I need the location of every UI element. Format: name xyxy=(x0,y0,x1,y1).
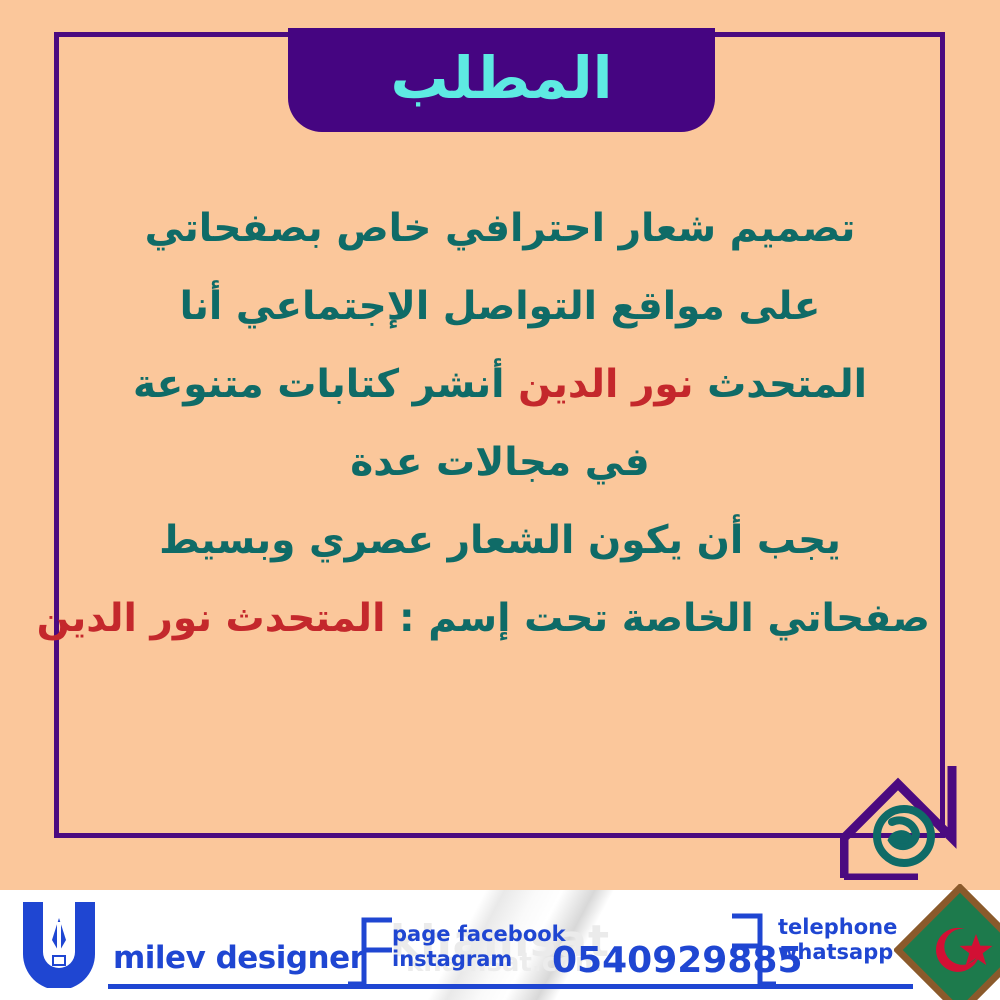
text-line-4: في مجالات عدة xyxy=(70,424,930,502)
text-segment-highlight: نور الدين xyxy=(518,362,693,407)
label-telephone: telephone xyxy=(778,915,897,940)
requirement-text-block: تصميم شعار احترافي خاص بصفحاتي على مواقع… xyxy=(70,190,930,658)
diamond-swirl-icon xyxy=(840,760,970,880)
text-segment: يجب أن يكون الشعار عصري وبسيط xyxy=(159,518,841,563)
text-segment: أنشر كتابات متنوعة xyxy=(133,362,518,407)
text-segment: على مواقع التواصل الإجتماعي أنا xyxy=(180,284,821,329)
bracket-left-icon xyxy=(348,916,394,988)
text-segment-highlight: المتحدث نور الدين xyxy=(37,596,386,641)
text-line-2: على مواقع التواصل الإجتماعي أنا xyxy=(70,268,930,346)
text-line-1: تصميم شعار احترافي خاص بصفحاتي xyxy=(70,190,930,268)
text-line-3: المتحدث نور الدين أنشر كتابات متنوعة xyxy=(70,346,930,424)
label-page-facebook: page facebook xyxy=(392,922,566,947)
footer-rule xyxy=(108,984,913,989)
text-segment: في مجالات عدة xyxy=(350,440,649,485)
contacts-left-labels: page facebook instagram xyxy=(392,922,566,972)
title-banner: المطلب xyxy=(288,28,715,132)
text-line-5: يجب أن يكون الشعار عصري وبسيط xyxy=(70,502,930,580)
contacts-right-labels: telephone whatsapp xyxy=(778,915,897,965)
bracket-right-icon xyxy=(730,912,776,988)
text-line-6: صفحاتي الخاصة تحت إسم : المتحدث نور الدي… xyxy=(70,580,930,658)
swirl-icon xyxy=(877,809,931,863)
banner-title: المطلب xyxy=(390,49,612,107)
brand-name: milev designer xyxy=(113,940,364,976)
label-instagram: instagram xyxy=(392,947,566,972)
algeria-flag-icon xyxy=(894,884,1000,1000)
text-segment: المتحدث xyxy=(694,362,867,407)
text-segment: صفحاتي الخاصة تحت إسم : xyxy=(385,596,930,641)
text-segment: تصميم شعار احترافي خاص بصفحاتي xyxy=(145,206,856,251)
poster-root: المطلب تصميم شعار احترافي خاص بصفحاتي عل… xyxy=(0,0,1000,1000)
poster-card: المطلب تصميم شعار احترافي خاص بصفحاتي عل… xyxy=(0,0,1000,890)
milev-pen-logo-icon xyxy=(18,900,100,988)
label-whatsapp: whatsapp xyxy=(778,940,897,965)
